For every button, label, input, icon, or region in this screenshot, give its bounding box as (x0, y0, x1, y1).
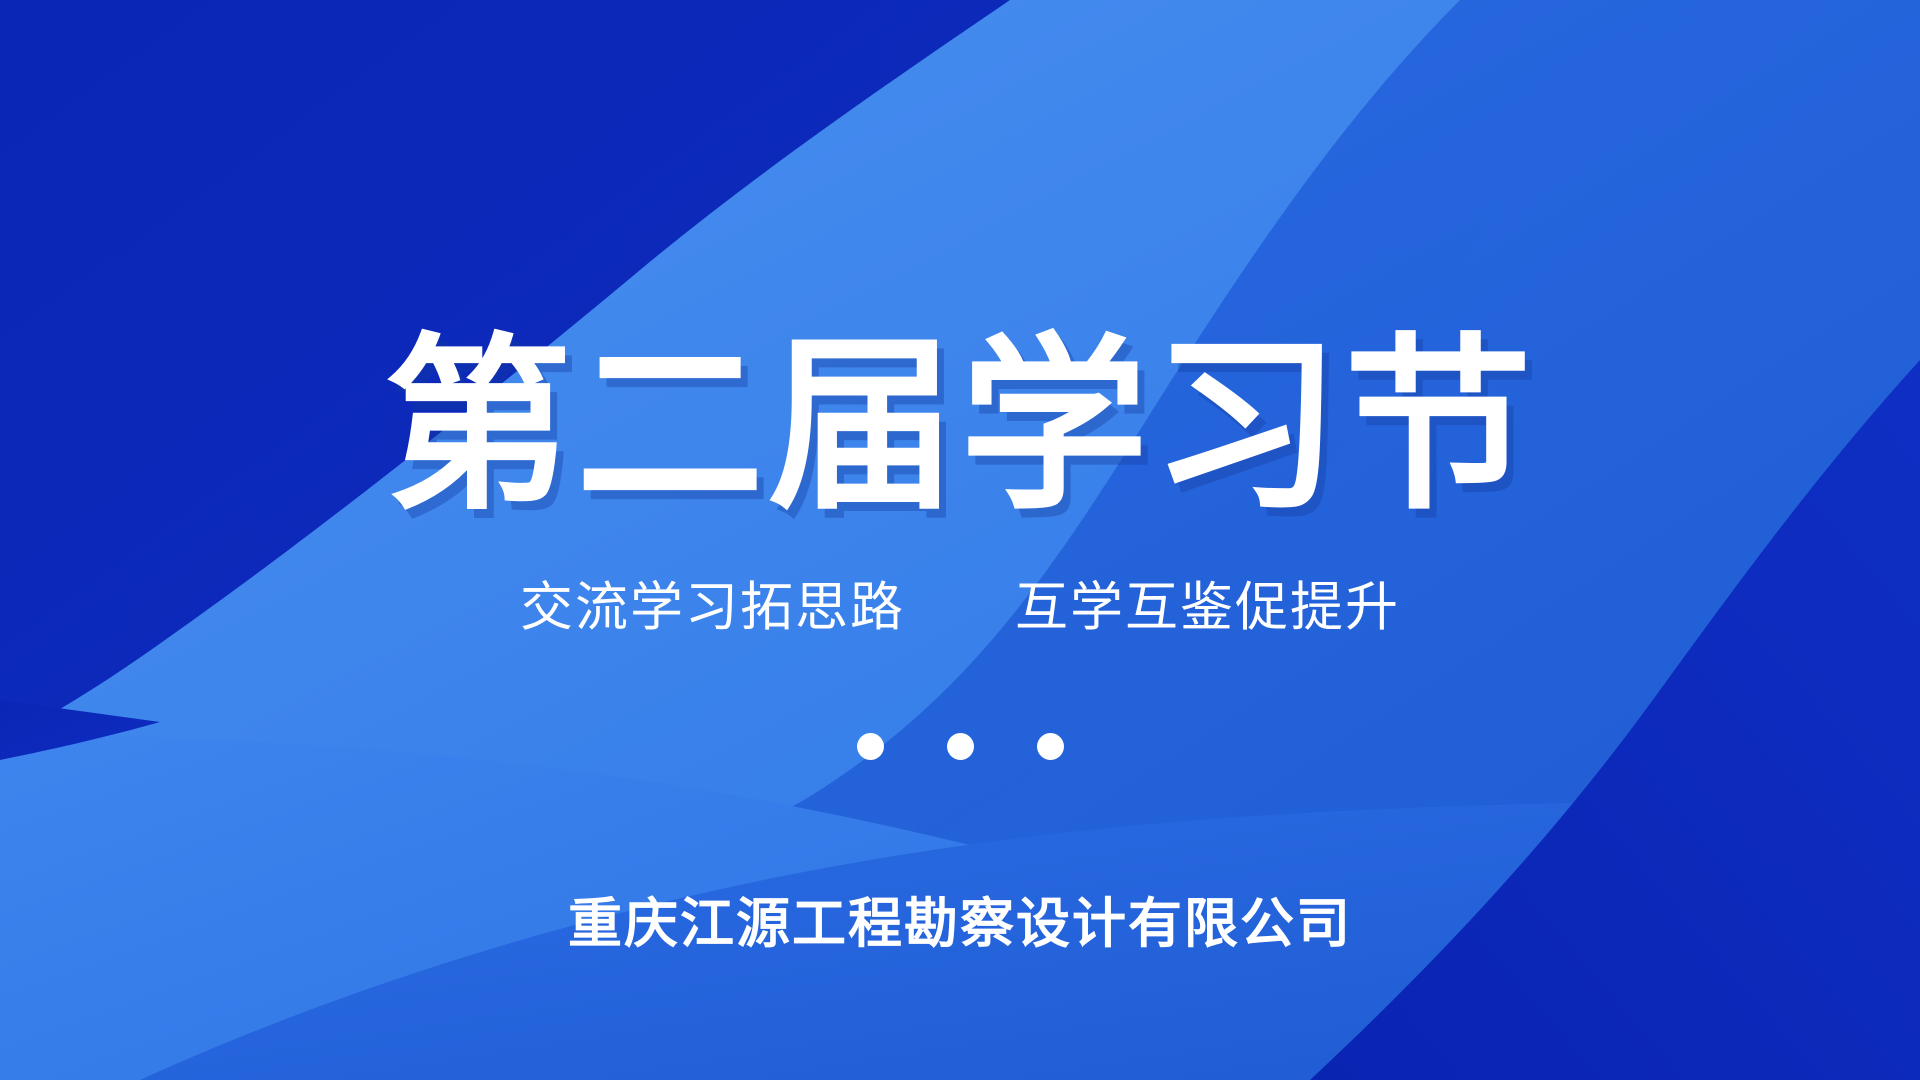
title-block: 第二届学习节 (0, 332, 1920, 520)
subtitle-block: 交流学习拓思路 互学互鉴促提升 (0, 578, 1920, 639)
page-title: 第二届学习节 (384, 332, 1536, 520)
company-block: 重庆江源工程勘察设计有限公司 (0, 892, 1920, 957)
company-name: 重庆江源工程勘察设计有限公司 (568, 892, 1352, 957)
poster-content: 第二届学习节 交流学习拓思路 互学互鉴促提升 重庆江源工程勘察设计有限公司 (0, 0, 1920, 1080)
dot-divider (0, 733, 1920, 760)
poster-canvas: 第二届学习节 交流学习拓思路 互学互鉴促提升 重庆江源工程勘察设计有限公司 (0, 0, 1920, 1080)
divider-dot-icon (857, 733, 884, 760)
poster-subtitle: 交流学习拓思路 互学互鉴促提升 (520, 578, 1400, 639)
divider-dot-icon (947, 733, 974, 760)
divider-dot-icon (1037, 733, 1064, 760)
